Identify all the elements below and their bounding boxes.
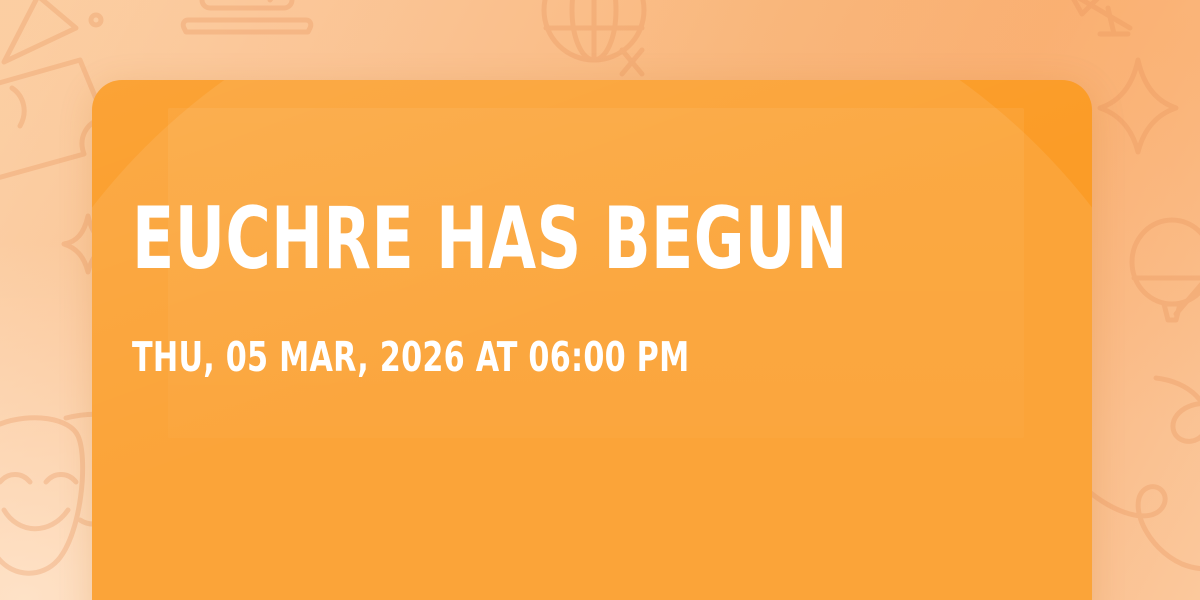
sparkle-icon xyxy=(1096,56,1180,156)
laptop-icon xyxy=(182,0,312,48)
bunting-icon xyxy=(990,0,1160,62)
event-banner: EUCHRE HAS BEGUN THU, 05 MAR, 2026 AT 06… xyxy=(0,0,1200,600)
card-text-block: EUCHRE HAS BEGUN THU, 05 MAR, 2026 AT 06… xyxy=(132,198,1052,378)
globe-icon xyxy=(530,0,660,84)
confetti-popper-icon xyxy=(0,0,110,86)
event-datetime: THU, 05 MAR, 2026 AT 06:00 PM xyxy=(132,281,886,378)
balloon-icon xyxy=(1128,222,1200,372)
event-title: EUCHRE HAS BEGUN xyxy=(132,198,868,281)
event-card: EUCHRE HAS BEGUN THU, 05 MAR, 2026 AT 06… xyxy=(92,80,1092,600)
